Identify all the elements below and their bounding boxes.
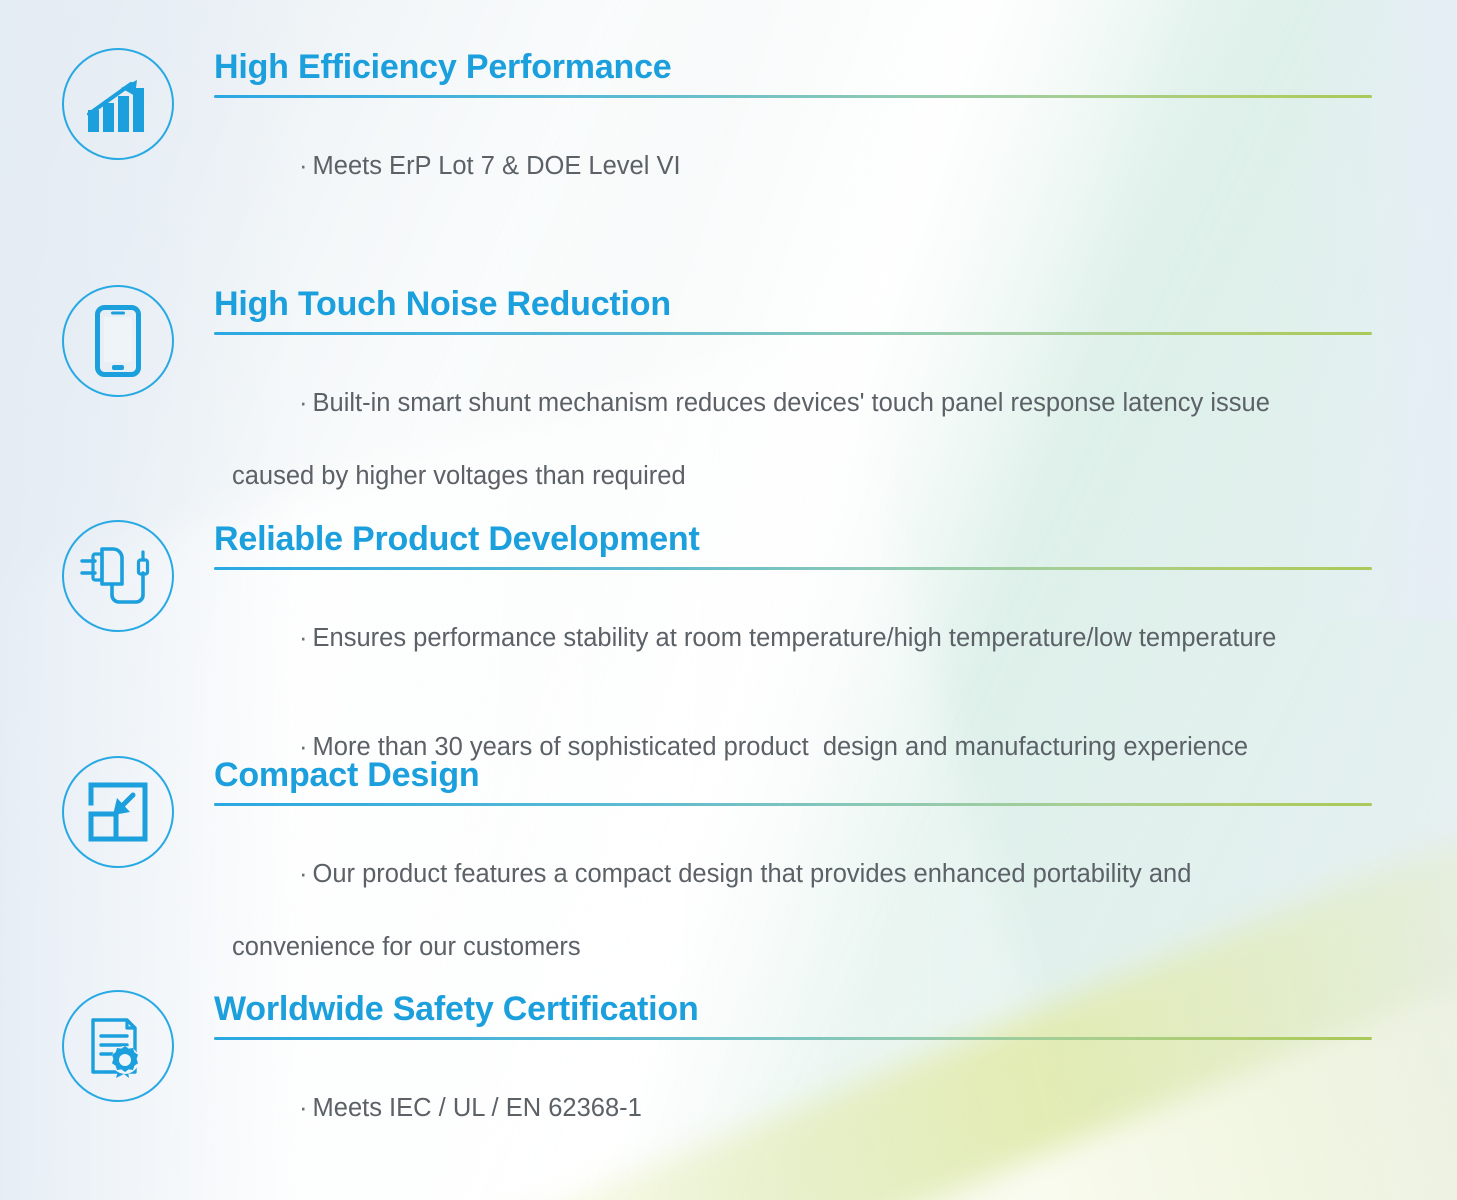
bullet-glyph: · [299,152,308,180]
feature-highlights-page: High Efficiency Performance ·Meets ErP L… [0,0,1457,1200]
bullet-text: Ensures performance stability at room te… [313,624,1277,652]
feature-bullet-list: ·Meets IEC / UL / EN 62368-1 [214,1054,1372,1163]
feature-icon-container [58,520,178,632]
power-adapter-icon [79,543,157,609]
certificate-seal-icon [87,1012,149,1080]
feature-icon-container [58,990,178,1102]
feature-body: Worldwide Safety Certification ·Meets IE… [214,990,1457,1163]
icon-circle [62,285,174,397]
icon-circle [62,520,174,632]
bullet-text: Built-in smart shunt mechanism reduces d… [313,389,1270,417]
feature-title: Worldwide Safety Certification [214,990,1372,1028]
bullet-glyph: · [299,1094,308,1122]
bullet-text-continuation: caused by higher voltages than required [214,458,1372,494]
feature-bullet-line: ·Meets IEC / UL / EN 62368-1 [214,1054,1372,1163]
feature-title: High Touch Noise Reduction [214,285,1372,323]
feature-bullet-line: ·Ensures performance stability at room t… [214,584,1372,693]
bullet-text: Meets IEC / UL / EN 62368-1 [313,1094,642,1122]
feature-item-worldwide-safety-certification: Worldwide Safety Certification ·Meets IE… [0,990,1457,1163]
bullet-text: Meets ErP Lot 7 & DOE Level VI [313,152,681,180]
feature-bullet-list: ·Meets ErP Lot 7 & DOE Level VI [214,112,1372,221]
feature-icon-container [58,48,178,160]
feature-body: High Efficiency Performance ·Meets ErP L… [214,48,1457,221]
feature-divider [214,95,1372,98]
feature-icon-container [58,756,178,868]
bullet-glyph: · [299,389,308,417]
icon-circle [62,990,174,1102]
bullet-glyph: · [299,860,308,888]
icon-circle [62,756,174,868]
compact-resize-icon [87,781,149,843]
feature-title: Reliable Product Development [214,520,1372,558]
feature-divider [214,567,1372,570]
feature-divider [214,803,1372,806]
feature-divider [214,1037,1372,1040]
feature-bullet-line: ·Meets ErP Lot 7 & DOE Level VI [214,112,1372,221]
feature-divider [214,332,1372,335]
feature-item-high-efficiency-performance: High Efficiency Performance ·Meets ErP L… [0,48,1457,221]
smartphone-icon [95,305,141,377]
feature-title: High Efficiency Performance [214,48,1372,86]
bar-chart-growth-icon [85,74,151,134]
bullet-glyph: · [299,624,308,652]
bullet-text-continuation: convenience for our customers [214,929,1372,965]
icon-circle [62,48,174,160]
feature-title: Compact Design [214,756,1372,794]
bullet-text: Our product features a compact design th… [313,860,1192,888]
feature-icon-container [58,285,178,397]
